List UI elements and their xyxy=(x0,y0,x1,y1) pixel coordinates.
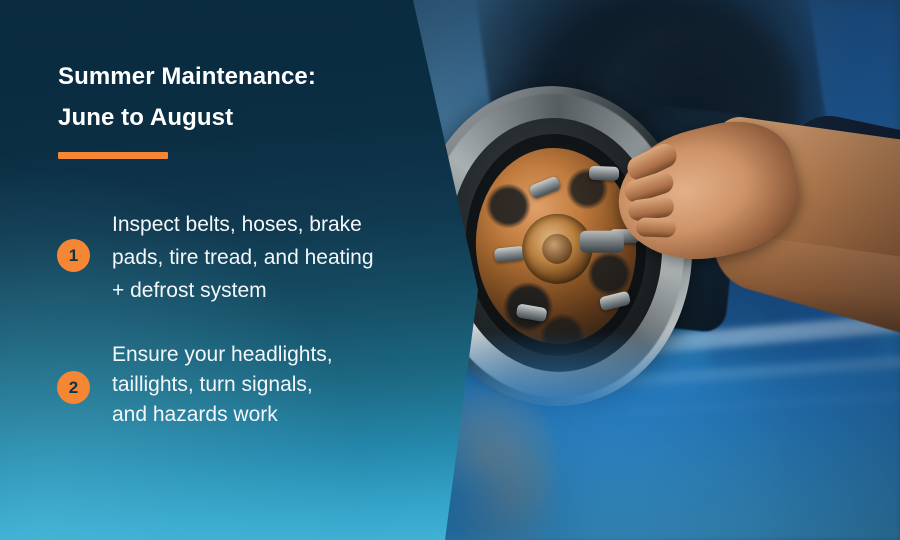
page-title-line-2: June to August xyxy=(58,97,398,138)
list-item-number-badge: 1 xyxy=(57,239,90,272)
panel-content: Summer Maintenance: June to August 1 Ins… xyxy=(0,0,420,540)
axle-shaft xyxy=(580,231,624,253)
summer-maintenance-infographic: Summer Maintenance: June to August 1 Ins… xyxy=(0,0,900,540)
list-item-text-line: Ensure your headlights, xyxy=(112,340,416,370)
list-item-number-badge: 2 xyxy=(57,371,90,404)
hand-finger xyxy=(636,217,677,237)
accent-divider xyxy=(58,152,168,159)
lug-stud xyxy=(589,166,619,181)
list-item: 2 Ensure your headlights, taillights, tu… xyxy=(56,340,416,430)
page-title-line-1: Summer Maintenance: xyxy=(58,63,316,90)
list-item-text-line: Inspect belts, hoses, brake xyxy=(112,208,416,241)
list-item-text: Ensure your headlights, taillights, turn… xyxy=(112,340,416,430)
list-item: 1 Inspect belts, hoses, brake pads, tire… xyxy=(56,208,416,307)
list-item-text: Inspect belts, hoses, brake pads, tire t… xyxy=(112,208,416,307)
list-item-text-line: and hazards work xyxy=(112,400,416,430)
list-item-text-line: taillights, turn signals, xyxy=(112,370,416,400)
list-item-text-line: + defrost system xyxy=(112,274,416,307)
page-title: Summer Maintenance: June to August xyxy=(58,56,398,138)
list-item-text-line: pads, tire tread, and heating xyxy=(112,241,416,274)
